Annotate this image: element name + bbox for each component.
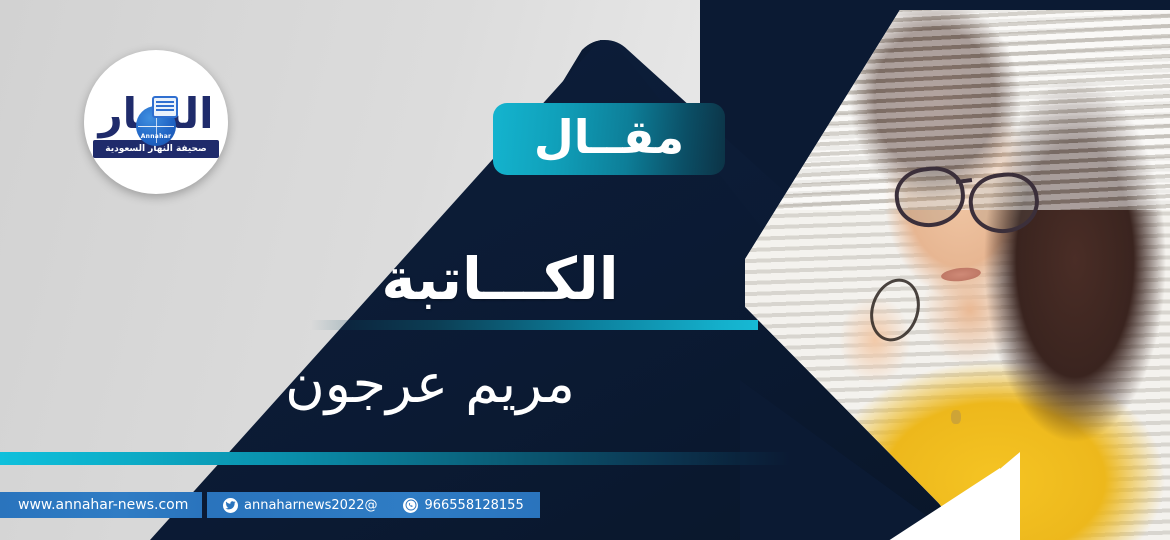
category-badge-label: مقــال (534, 114, 684, 160)
whatsapp-icon (403, 498, 418, 513)
window-blinds (745, 10, 1170, 210)
twitter-icon (223, 498, 238, 513)
website-url-pill[interactable]: www.annahar-news.com (0, 492, 202, 518)
bottom-accent-band (0, 452, 790, 465)
category-badge: مقــال (493, 103, 725, 175)
author-role-label: الكـــاتبة (0, 245, 1085, 313)
website-url-text: www.annahar-news.com (18, 497, 188, 513)
twitter-handle: annaharnews2022@ (244, 498, 377, 513)
whatsapp-link[interactable]: 966558128155 (403, 498, 523, 513)
whatsapp-number: 966558128155 (424, 498, 523, 513)
title-divider (310, 320, 758, 330)
article-author-banner: مقــال الكـــاتبة مريم عرجون النهار Anna… (0, 0, 1170, 540)
annahar-logo[interactable]: النهار Annahar صحيفة النهار السعودية (84, 50, 228, 194)
social-links-pill: annaharnews2022@ 966558128155 (207, 492, 540, 518)
eyeglasses (895, 165, 1045, 219)
logo-globe-label: Annahar (141, 133, 172, 140)
twitter-link[interactable]: annaharnews2022@ (223, 498, 377, 513)
author-name: مريم عرجون (0, 352, 1015, 415)
logo-screen-icon (152, 96, 178, 118)
